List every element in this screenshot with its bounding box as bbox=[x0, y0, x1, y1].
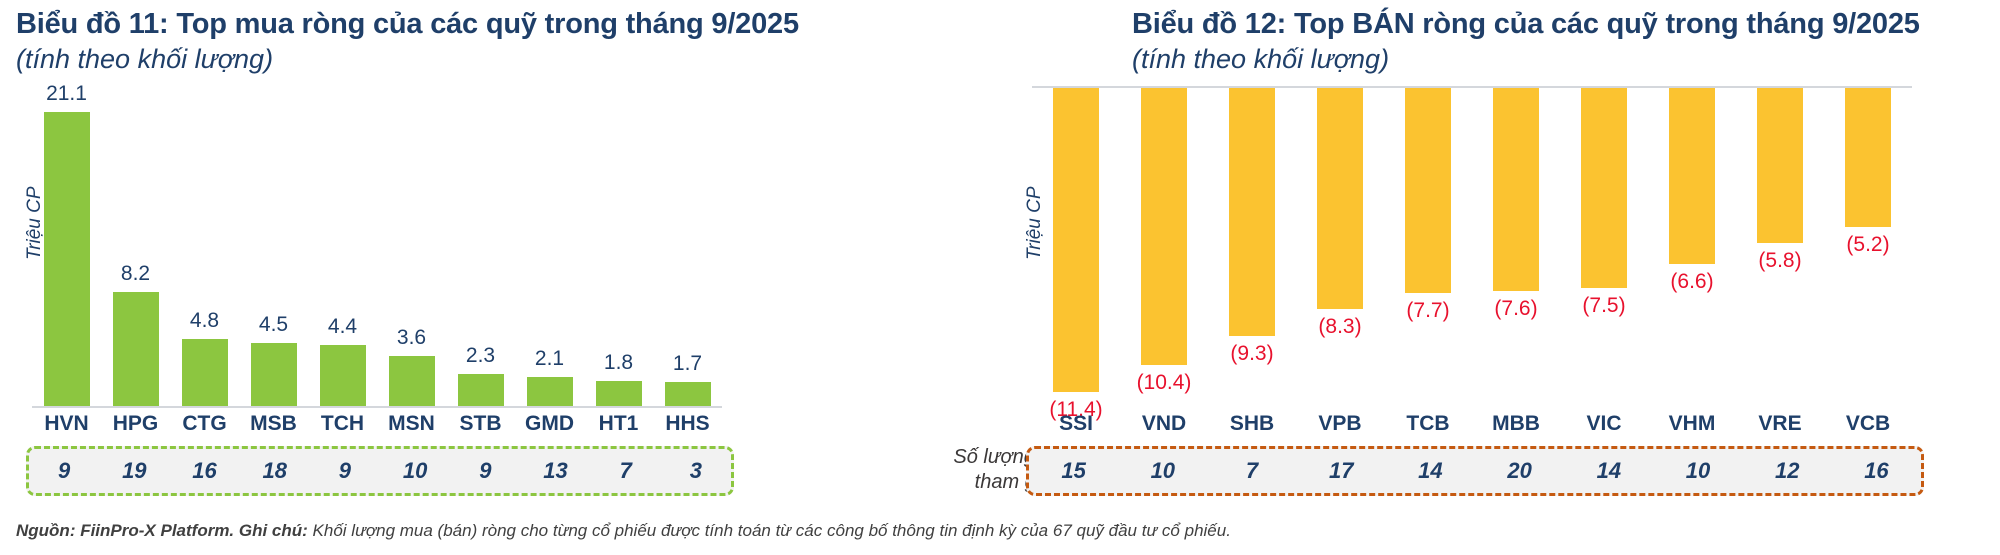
source-text: Khối lượng mua (bán) ròng cho từng cổ ph… bbox=[308, 521, 1231, 540]
bar-tch bbox=[320, 345, 366, 406]
bar-gmd bbox=[527, 377, 573, 406]
fund-count-msn: 10 bbox=[380, 458, 450, 484]
fund-count-ssi: 15 bbox=[1029, 458, 1118, 484]
chart-11-bars: 21.18.24.84.54.43.62.32.11.81.7 bbox=[32, 86, 722, 406]
chart-11-axis-line bbox=[32, 406, 722, 408]
bar-ssi bbox=[1053, 88, 1099, 392]
bar-value-label: (6.6) bbox=[1648, 270, 1736, 294]
source-label: Nguồn: FiinPro-X Platform. Ghi chú: bbox=[16, 521, 308, 540]
chart-12-bars: (11.4)(10.4)(9.3)(8.3)(7.7)(7.6)(7.5)(6.… bbox=[1032, 88, 1912, 408]
bar-group-msn: 3.6 bbox=[377, 86, 446, 406]
category-label-tch: TCH bbox=[308, 410, 377, 438]
fund-count-tcb: 14 bbox=[1386, 458, 1475, 484]
bar-group-mbb: (7.6) bbox=[1472, 88, 1560, 408]
bar-value-label: 8.2 bbox=[101, 262, 170, 286]
bar-value-label: 21.1 bbox=[32, 82, 101, 106]
bar-group-tch: 4.4 bbox=[308, 86, 377, 406]
fund-count-ctg: 16 bbox=[169, 458, 239, 484]
category-label-hhs: HHS bbox=[653, 410, 722, 438]
category-label-vcb: VCB bbox=[1824, 410, 1912, 438]
category-label-msb: MSB bbox=[239, 410, 308, 438]
chart-11-subtitle: (tính theo khối lượng) bbox=[16, 44, 273, 75]
bar-ht1 bbox=[596, 381, 642, 406]
bar-group-stb: 2.3 bbox=[446, 86, 515, 406]
bar-ctg bbox=[182, 339, 228, 406]
bar-msn bbox=[389, 356, 435, 406]
bar-group-tcb: (7.7) bbox=[1384, 88, 1472, 408]
category-label-tcb: TCB bbox=[1384, 410, 1472, 438]
bar-value-label: (9.3) bbox=[1208, 342, 1296, 366]
bar-vpb bbox=[1317, 88, 1363, 309]
fund-count-vhm: 10 bbox=[1653, 458, 1742, 484]
bar-value-label: 1.7 bbox=[653, 352, 722, 376]
bar-value-label: (5.2) bbox=[1824, 233, 1912, 257]
category-label-hvn: HVN bbox=[32, 410, 101, 438]
bar-group-msb: 4.5 bbox=[239, 86, 308, 406]
chart-panel-buy: Biểu đồ 11: Top mua ròng của các quỹ tro… bbox=[0, 0, 1000, 555]
bar-value-label: (7.5) bbox=[1560, 294, 1648, 318]
fund-count-vnd: 10 bbox=[1118, 458, 1207, 484]
category-label-msn: MSN bbox=[377, 410, 446, 438]
fund-count-hpg: 19 bbox=[99, 458, 169, 484]
fund-count-ht1: 7 bbox=[591, 458, 661, 484]
chart-page: Biểu đồ 11: Top mua ròng của các quỹ tro… bbox=[0, 0, 2000, 555]
bar-group-vre: (5.8) bbox=[1736, 88, 1824, 408]
bar-vre bbox=[1757, 88, 1803, 243]
bar-group-ctg: 4.8 bbox=[170, 86, 239, 406]
bar-shb bbox=[1229, 88, 1275, 336]
chart-11-fund-count-box: 919161891091373 bbox=[26, 446, 734, 496]
bar-value-label: 4.4 bbox=[308, 315, 377, 339]
bar-tcb bbox=[1405, 88, 1451, 293]
bar-hvn bbox=[44, 112, 90, 406]
bar-vhm bbox=[1669, 88, 1715, 264]
bar-group-ssi: (11.4) bbox=[1032, 88, 1120, 408]
category-label-vre: VRE bbox=[1736, 410, 1824, 438]
chart-12-title: Biểu đồ 12: Top BÁN ròng của các quỹ tro… bbox=[1132, 8, 1920, 41]
bar-value-label: 2.3 bbox=[446, 344, 515, 368]
category-label-vic: VIC bbox=[1560, 410, 1648, 438]
fund-count-vic: 14 bbox=[1564, 458, 1653, 484]
category-label-gmd: GMD bbox=[515, 410, 584, 438]
category-label-stb: STB bbox=[446, 410, 515, 438]
category-label-mbb: MBB bbox=[1472, 410, 1560, 438]
fund-count-vcb: 16 bbox=[1832, 458, 1921, 484]
category-label-ssi: SSI bbox=[1032, 410, 1120, 438]
bar-value-label: (7.6) bbox=[1472, 297, 1560, 321]
bar-group-hpg: 8.2 bbox=[101, 86, 170, 406]
bar-value-label: 4.8 bbox=[170, 309, 239, 333]
bar-vcb bbox=[1845, 88, 1891, 227]
fund-count-msb: 18 bbox=[240, 458, 310, 484]
fund-count-vre: 12 bbox=[1743, 458, 1832, 484]
category-label-hpg: HPG bbox=[101, 410, 170, 438]
bar-vnd bbox=[1141, 88, 1187, 365]
bar-mbb bbox=[1493, 88, 1539, 291]
category-label-ht1: HT1 bbox=[584, 410, 653, 438]
bar-value-label: (8.3) bbox=[1296, 315, 1384, 339]
bar-group-vpb: (8.3) bbox=[1296, 88, 1384, 408]
bar-value-label: 1.8 bbox=[584, 351, 653, 375]
bar-group-ht1: 1.8 bbox=[584, 86, 653, 406]
fund-count-mbb: 20 bbox=[1475, 458, 1564, 484]
category-label-vhm: VHM bbox=[1648, 410, 1736, 438]
bar-value-label: (10.4) bbox=[1120, 371, 1208, 395]
bar-value-label: (5.8) bbox=[1736, 249, 1824, 273]
bar-group-vic: (7.5) bbox=[1560, 88, 1648, 408]
bar-group-shb: (9.3) bbox=[1208, 88, 1296, 408]
bar-group-vnd: (10.4) bbox=[1120, 88, 1208, 408]
source-footnote: Nguồn: FiinPro-X Platform. Ghi chú: Khối… bbox=[16, 521, 1231, 541]
fund-count-tch: 9 bbox=[310, 458, 380, 484]
bar-value-label: 2.1 bbox=[515, 347, 584, 371]
chart-12-subtitle: (tính theo khối lượng) bbox=[1132, 44, 1389, 75]
category-label-vnd: VND bbox=[1120, 410, 1208, 438]
bar-group-hhs: 1.7 bbox=[653, 86, 722, 406]
bar-value-label: 3.6 bbox=[377, 326, 446, 350]
bar-vic bbox=[1581, 88, 1627, 288]
category-label-shb: SHB bbox=[1208, 410, 1296, 438]
bar-hhs bbox=[665, 382, 711, 406]
bar-value-label: (7.7) bbox=[1384, 299, 1472, 323]
fund-count-vpb: 17 bbox=[1297, 458, 1386, 484]
bar-stb bbox=[458, 374, 504, 406]
chart-12-fund-count-box: 1510717142014101216 bbox=[1026, 446, 1924, 496]
bar-hpg bbox=[113, 292, 159, 406]
fund-count-hvn: 9 bbox=[29, 458, 99, 484]
bar-group-vcb: (5.2) bbox=[1824, 88, 1912, 408]
fund-count-stb: 9 bbox=[450, 458, 520, 484]
chart-11-category-labels: HVNHPGCTGMSBTCHMSNSTBGMDHT1HHS bbox=[32, 410, 722, 438]
bar-group-gmd: 2.1 bbox=[515, 86, 584, 406]
fund-count-shb: 7 bbox=[1207, 458, 1296, 484]
bar-value-label: 4.5 bbox=[239, 313, 308, 337]
bar-group-hvn: 21.1 bbox=[32, 86, 101, 406]
bar-msb bbox=[251, 343, 297, 406]
chart-12-plot: (11.4)(10.4)(9.3)(8.3)(7.7)(7.6)(7.5)(6.… bbox=[1032, 86, 1912, 408]
fund-count-hhs: 3 bbox=[661, 458, 731, 484]
category-label-ctg: CTG bbox=[170, 410, 239, 438]
chart-11-title: Biểu đồ 11: Top mua ròng của các quỹ tro… bbox=[16, 8, 799, 41]
chart-11-plot: 21.18.24.84.54.43.62.32.11.81.7 bbox=[32, 86, 722, 408]
bar-group-vhm: (6.6) bbox=[1648, 88, 1736, 408]
chart-12-category-labels: SSIVNDSHBVPBTCBMBBVICVHMVREVCB bbox=[1032, 410, 1912, 438]
fund-count-gmd: 13 bbox=[520, 458, 590, 484]
chart-panel-sell: Biểu đồ 12: Top BÁN ròng của các quỹ tro… bbox=[1000, 0, 2000, 555]
category-label-vpb: VPB bbox=[1296, 410, 1384, 438]
